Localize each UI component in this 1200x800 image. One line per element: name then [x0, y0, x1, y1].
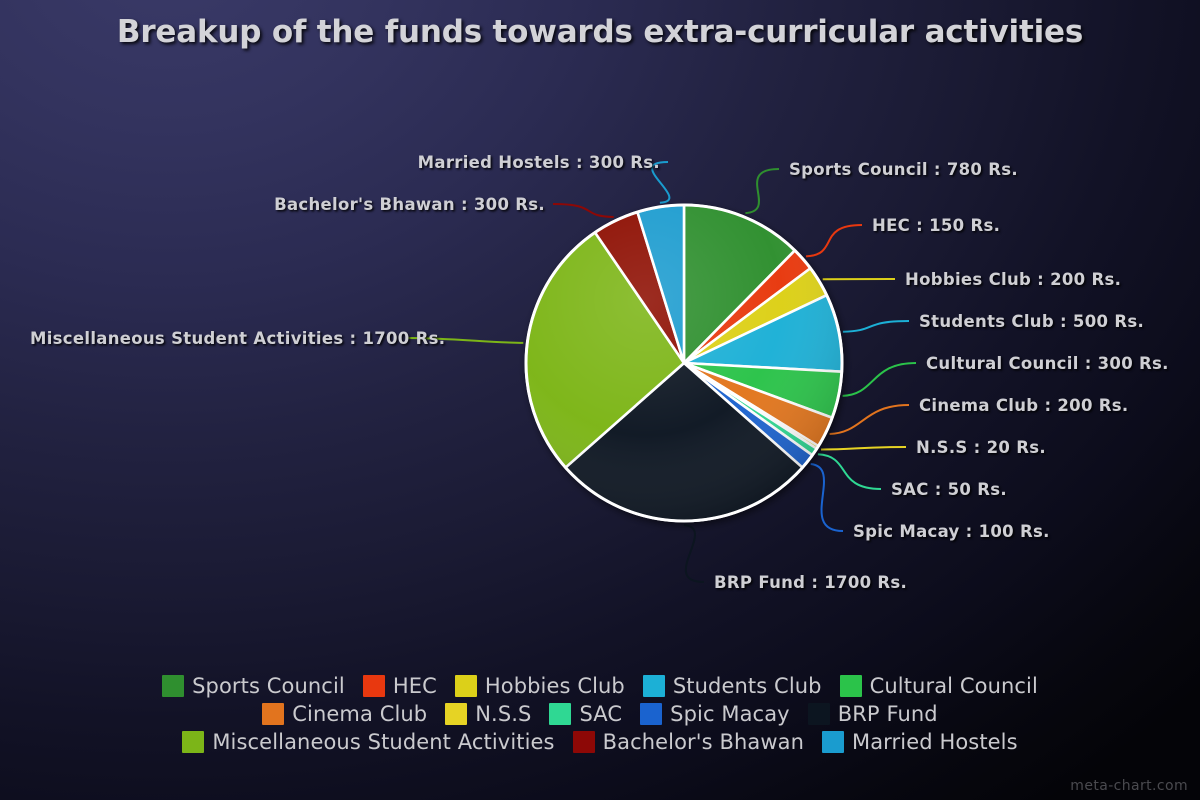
legend-label-married-hostels: Married Hostels	[852, 730, 1018, 754]
legend-swatch-students-club	[643, 675, 665, 697]
legend-item-spic-macay[interactable]: Spic Macay	[640, 702, 790, 726]
legend-item-n-s-s[interactable]: N.S.S	[445, 702, 531, 726]
legend-row-2: Cinema ClubN.S.SSACSpic MacayBRP Fund	[0, 700, 1200, 728]
legend-item-sports-council[interactable]: Sports Council	[162, 674, 345, 698]
legend-swatch-cinema-club	[262, 703, 284, 725]
legend-swatch-sports-council	[162, 675, 184, 697]
legend-item-cinema-club[interactable]: Cinema Club	[262, 702, 427, 726]
legend-item-hec[interactable]: HEC	[363, 674, 437, 698]
legend-row-3: Miscellaneous Student ActivitiesBachelor…	[0, 728, 1200, 756]
legend-item-bachelor-s-bhawan[interactable]: Bachelor's Bhawan	[573, 730, 804, 754]
callout-label-spic-macay: Spic Macay : 100 Rs.	[853, 522, 1050, 541]
legend-label-n-s-s: N.S.S	[475, 702, 531, 726]
callout-label-students-club: Students Club : 500 Rs.	[919, 312, 1144, 331]
legend-swatch-cultural-council	[840, 675, 862, 697]
legend-swatch-hec	[363, 675, 385, 697]
legend-item-sac[interactable]: SAC	[549, 702, 622, 726]
legend-swatch-sac	[549, 703, 571, 725]
callout-label-hobbies-club: Hobbies Club : 200 Rs.	[905, 270, 1121, 289]
legend-item-married-hostels[interactable]: Married Hostels	[822, 730, 1018, 754]
callout-label-nss: N.S.S : 20 Rs.	[916, 438, 1046, 457]
callout-label-cultural-council: Cultural Council : 300 Rs.	[926, 354, 1169, 373]
callout-label-sports-council: Sports Council : 780 Rs.	[789, 160, 1018, 179]
legend-label-spic-macay: Spic Macay	[670, 702, 790, 726]
legend-swatch-hobbies-club	[455, 675, 477, 697]
callout-label-cinema-club: Cinema Club : 200 Rs.	[919, 396, 1128, 415]
legend-swatch-n-s-s	[445, 703, 467, 725]
leader-line-bachelors-bhawan	[553, 204, 614, 217]
chart-canvas: Breakup of the funds towards extra-curri…	[0, 0, 1200, 800]
legend-swatch-bachelor-s-bhawan	[573, 731, 595, 753]
leader-line-brp-fund	[684, 525, 704, 582]
legend-item-hobbies-club[interactable]: Hobbies Club	[455, 674, 625, 698]
leader-line-sac	[818, 454, 881, 489]
legend-item-students-club[interactable]: Students Club	[643, 674, 822, 698]
legend-label-bachelor-s-bhawan: Bachelor's Bhawan	[603, 730, 804, 754]
callout-label-married-hostels: Married Hostels : 300 Rs.	[418, 153, 660, 172]
legend-label-brp-fund: BRP Fund	[838, 702, 938, 726]
legend-label-hobbies-club: Hobbies Club	[485, 674, 625, 698]
legend-item-miscellaneous-student-activities[interactable]: Miscellaneous Student Activities	[182, 730, 554, 754]
legend-swatch-spic-macay	[640, 703, 662, 725]
legend-label-sac: SAC	[579, 702, 622, 726]
callout-label-brp-fund: BRP Fund : 1700 Rs.	[714, 573, 907, 592]
pie-slices: Sports Council : 780 Rs.HEC : 150 Rs.Hob…	[526, 205, 842, 521]
leader-line-nss	[821, 447, 906, 450]
legend-label-cultural-council: Cultural Council	[870, 674, 1038, 698]
leader-line-sports-council	[745, 169, 779, 213]
legend-label-miscellaneous-student-activities: Miscellaneous Student Activities	[212, 730, 554, 754]
callout-label-bachelors-bhawan: Bachelor's Bhawan : 300 Rs.	[274, 195, 545, 214]
leader-line-cultural-council	[843, 363, 916, 396]
legend-row-1: Sports CouncilHECHobbies ClubStudents Cl…	[0, 672, 1200, 700]
callout-label-sac: SAC : 50 Rs.	[891, 480, 1007, 499]
leader-line-cinema-club	[830, 405, 909, 434]
callout-label-miscellaneous: Miscellaneous Student Activities : 1700 …	[30, 329, 445, 348]
leader-line-hec	[806, 225, 862, 256]
legend-swatch-brp-fund	[808, 703, 830, 725]
legend-label-cinema-club: Cinema Club	[292, 702, 427, 726]
legend-swatch-married-hostels	[822, 731, 844, 753]
watermark: meta-chart.com	[1070, 778, 1188, 794]
legend-item-brp-fund[interactable]: BRP Fund	[808, 702, 938, 726]
legend-label-sports-council: Sports Council	[192, 674, 345, 698]
legend-swatch-miscellaneous-student-activities	[182, 731, 204, 753]
legend-item-cultural-council[interactable]: Cultural Council	[840, 674, 1038, 698]
callout-label-hec: HEC : 150 Rs.	[872, 216, 1000, 235]
leader-line-spic-macay	[811, 464, 843, 531]
leader-line-students-club	[843, 321, 909, 332]
legend-label-students-club: Students Club	[673, 674, 822, 698]
chart-legend: Sports CouncilHECHobbies ClubStudents Cl…	[0, 672, 1200, 756]
legend-label-hec: HEC	[393, 674, 437, 698]
